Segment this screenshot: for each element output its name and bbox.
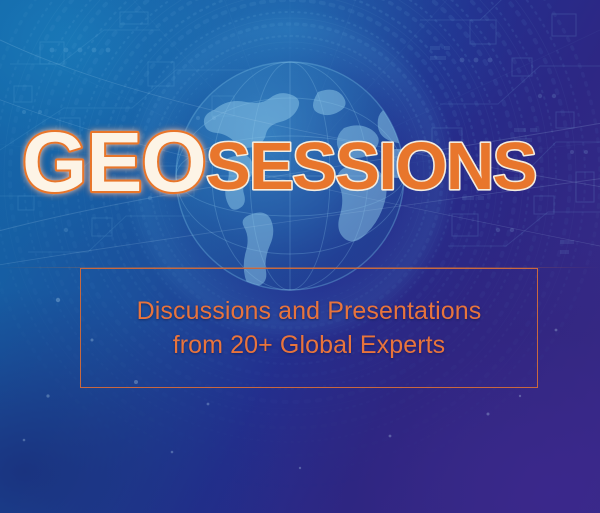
subtitle-box: Discussions and Presentations from 20+ G… bbox=[80, 268, 538, 388]
title-lockup: GEO SESSIONS bbox=[20, 117, 580, 209]
title-primary-text: GEO bbox=[22, 117, 206, 209]
title-secondary-text: SESSIONS bbox=[206, 129, 536, 204]
background-glow-top bbox=[0, 0, 600, 513]
subtitle-text: Discussions and Presentations from 20+ G… bbox=[123, 294, 496, 362]
subtitle-line-2: from 20+ Global Experts bbox=[137, 328, 482, 362]
banner-title: GEO SESSIONS bbox=[0, 118, 600, 208]
subtitle-line-1: Discussions and Presentations bbox=[137, 294, 482, 328]
geo-sessions-banner: GEO SESSIONS Discussions and Presentatio… bbox=[0, 0, 600, 513]
